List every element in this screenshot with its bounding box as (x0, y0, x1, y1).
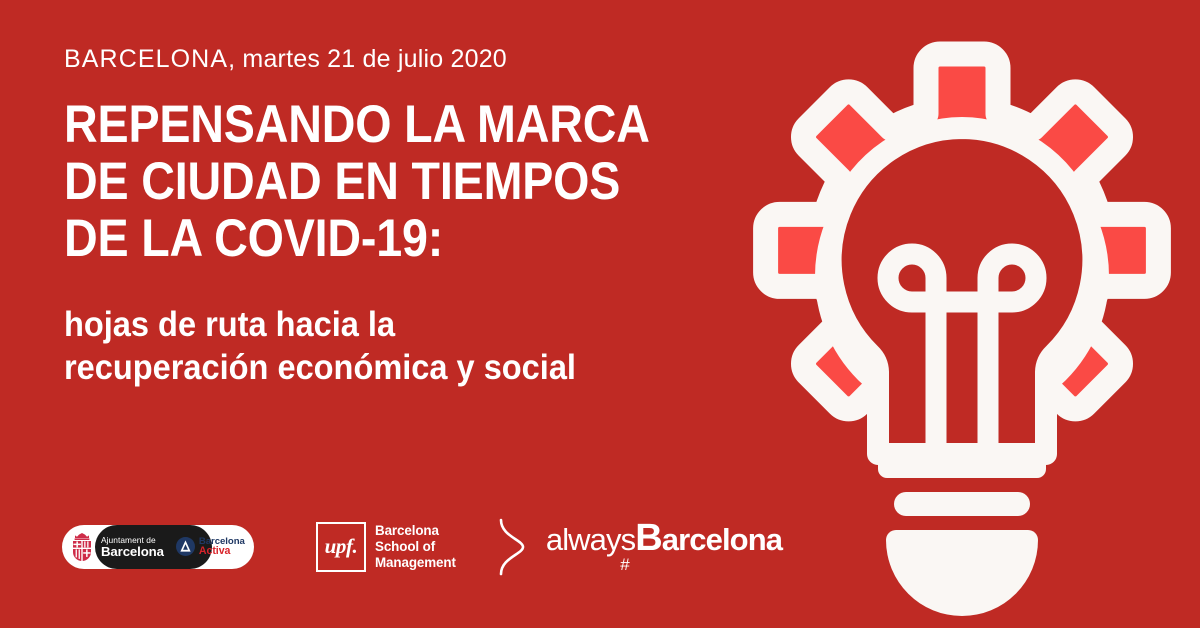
text-block: BARCELONA, martes 21 de julio 2020 REPEN… (64, 44, 724, 389)
barcelona-coat-of-arms-icon (70, 532, 94, 562)
activa-wordmark: Barcelona Activa (199, 537, 245, 558)
logo-barcelona-activa[interactable]: Barcelona Activa (176, 537, 245, 558)
logo-strip: Ajuntament de Barcelona Barcelona Activa… (62, 516, 782, 578)
always-wordmark: alwaysBarcelona # (546, 522, 782, 572)
barcelona-initial: B (635, 517, 662, 559)
subtitle-line-2: recuperación económica y social (64, 346, 678, 389)
upf-line-2: School of (375, 539, 456, 555)
bulb-base-dome (886, 530, 1038, 616)
logo-always-barcelona[interactable]: alwaysBarcelona # (498, 518, 782, 576)
headline-line-1: REPENSANDO LA MARCA (64, 96, 645, 153)
bulb-base-bar (878, 454, 1046, 478)
subtitle-line-1: hojas de ruta hacia la (64, 303, 678, 346)
page-title: REPENSANDO LA MARCA DE CIUDAD EN TIEMPOS… (64, 96, 645, 267)
upf-mark: upf. (325, 536, 358, 559)
gear-inner-circle (826, 140, 1098, 412)
ajuntament-line-2: Barcelona (101, 545, 164, 558)
upf-line-3: Management (375, 555, 456, 571)
upf-wordmark: Barcelona School of Management (375, 523, 456, 571)
logo-ajuntament-barcelona[interactable]: Ajuntament de Barcelona Barcelona Activa (62, 525, 254, 569)
hashtag-icon: # (620, 557, 629, 572)
activa-line-2: Activa (199, 546, 245, 557)
headline-line-2: DE CIUDAD EN TIEMPOS (64, 153, 645, 210)
page-subtitle: hojas de ruta hacia la recuperación econ… (64, 303, 678, 389)
always-word: always (546, 522, 635, 557)
barcelona-word: arcelona (662, 522, 782, 557)
bulb-base-ring (894, 492, 1030, 516)
event-city: BARCELONA (64, 45, 228, 73)
barcelona-activa-a-icon (176, 537, 195, 556)
lightbulb-icon (831, 128, 1094, 616)
event-date-line: BARCELONA, martes 21 de julio 2020 (64, 44, 724, 74)
upf-line-1: Barcelona (375, 523, 456, 539)
logo-upf-bsm[interactable]: upf. Barcelona School of Management (316, 522, 456, 572)
filament-icon (888, 254, 1036, 454)
upf-mark-box: upf. (316, 522, 366, 572)
always-barcelona-text: alwaysBarcelona (546, 522, 782, 556)
event-banner: BARCELONA, martes 21 de julio 2020 REPEN… (0, 0, 1200, 628)
headline-line-3: DE LA COVID-19: (64, 210, 645, 267)
ajuntament-wordmark: Ajuntament de Barcelona (101, 536, 164, 558)
event-date: , martes 21 de julio 2020 (228, 45, 507, 73)
curved-bracket-icon (498, 518, 526, 576)
gear-icon (766, 54, 1159, 447)
